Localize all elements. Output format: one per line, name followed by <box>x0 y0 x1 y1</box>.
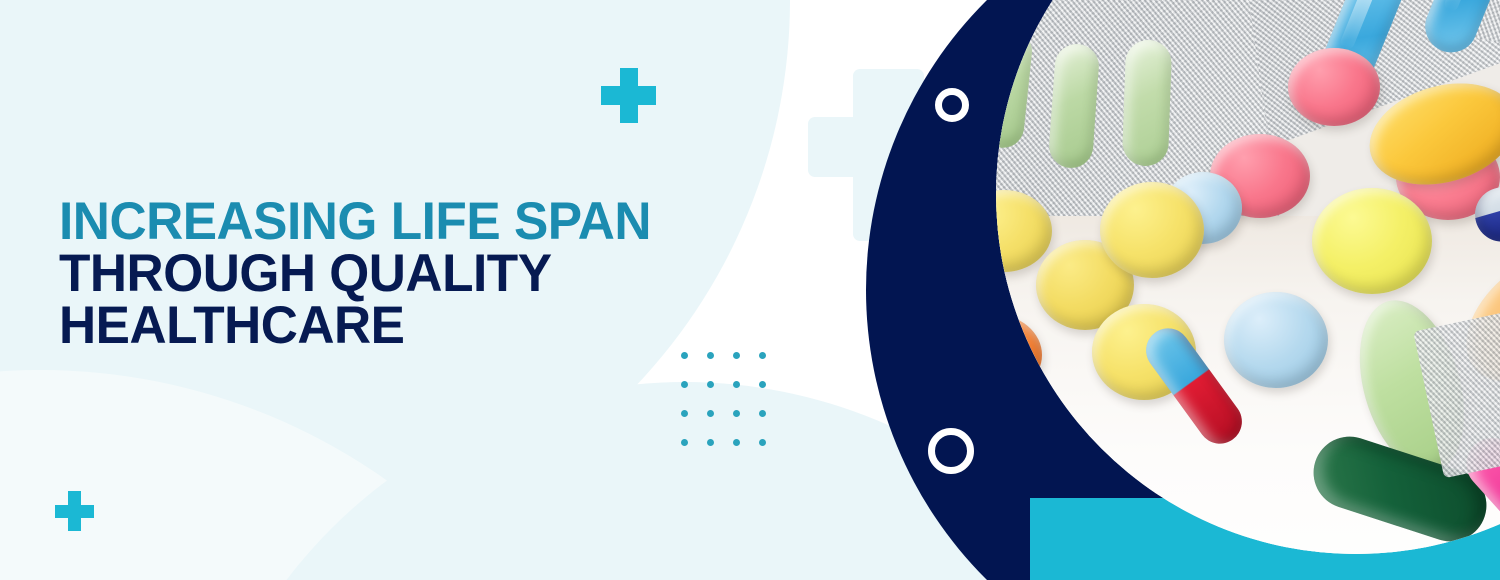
dot-grid-dot <box>707 439 714 446</box>
dark-green-capsule <box>1304 427 1496 550</box>
plus-icon-top <box>601 68 656 123</box>
light-blue-tablet <box>1164 172 1242 244</box>
plus-icon-top-horizontal-bar <box>601 86 656 105</box>
golden-oval-tablet <box>1358 67 1500 201</box>
yellow-tablet <box>996 190 1052 272</box>
pink-tablet <box>1396 134 1500 220</box>
blister-pack-top-right <box>1432 0 1500 91</box>
pink-tablet <box>1210 134 1310 218</box>
orange-oval-tablet <box>1442 227 1500 408</box>
pink-white-capsule <box>1456 427 1500 554</box>
table-surface <box>996 216 1500 554</box>
pills-photo-inner <box>996 0 1500 554</box>
dot-grid-dot <box>733 410 740 417</box>
blue-capsule <box>1483 184 1500 320</box>
page-title: INCREASING LIFE SPAN THROUGH QUALITY HEA… <box>59 196 779 352</box>
dot-grid-dot <box>733 352 740 359</box>
headline-line-2: THROUGH QUALITY <box>59 248 757 300</box>
dot-grid-dot <box>707 381 714 388</box>
headline-line-1: INCREASING LIFE SPAN <box>59 196 757 248</box>
blue-capsule <box>1313 0 1418 98</box>
navy-crescent-shape <box>866 0 1500 580</box>
dot-grid-dot <box>681 381 688 388</box>
healthcare-banner: INCREASING LIFE SPAN THROUGH QUALITY HEA… <box>0 0 1500 580</box>
green-oval-tablet <box>1342 288 1483 484</box>
blister-pack-upper-left <box>996 0 1309 107</box>
plus-icon-bottom <box>55 491 94 531</box>
decorative-blob-bottom-left <box>0 370 640 580</box>
yellow-tablet <box>1100 182 1204 278</box>
green-capsule <box>1122 39 1172 167</box>
green-capsule <box>1048 43 1101 170</box>
red-blue-capsule <box>1137 320 1250 453</box>
headline-line-3: HEALTHCARE <box>59 300 757 352</box>
green-capsule <box>996 28 1034 150</box>
dot-grid-dot <box>707 410 714 417</box>
blister-pack-green <box>996 0 1285 306</box>
blister-pack-top <box>1058 0 1500 172</box>
cross-outline-icon <box>808 69 924 241</box>
yellow-tablet <box>1312 188 1432 294</box>
dot-grid-dot <box>733 381 740 388</box>
blister-pack-lower-right <box>1413 280 1500 479</box>
dot-grid-dot <box>681 439 688 446</box>
dot-grid-dot <box>707 352 714 359</box>
circle-outline-icon-top <box>935 88 969 122</box>
dot-grid-decoration <box>681 352 785 468</box>
dot-grid-dot <box>681 410 688 417</box>
light-blue-tablet <box>1224 292 1328 388</box>
dot-grid-dot <box>759 410 766 417</box>
plus-icon-bottom-horizontal-bar <box>55 505 94 518</box>
dot-grid-dot <box>759 352 766 359</box>
pills-photo <box>996 0 1500 554</box>
yellow-tablet <box>1036 240 1134 330</box>
speckled-blue-capsule <box>1469 152 1500 248</box>
dot-grid-dot <box>759 439 766 446</box>
cyan-wedge-shape <box>1030 498 1500 580</box>
cross-outline-horizontal-bar <box>808 117 924 177</box>
blue-capsule <box>1157 0 1262 16</box>
dot-grid-dot <box>681 352 688 359</box>
yellow-tablet <box>1092 304 1196 400</box>
circle-outline-icon-bottom <box>928 428 974 474</box>
orange-tablet <box>996 314 1042 396</box>
pink-tablet <box>1288 48 1380 126</box>
dot-grid-dot <box>759 381 766 388</box>
dot-grid-dot <box>733 439 740 446</box>
blue-capsule <box>1417 0 1500 60</box>
